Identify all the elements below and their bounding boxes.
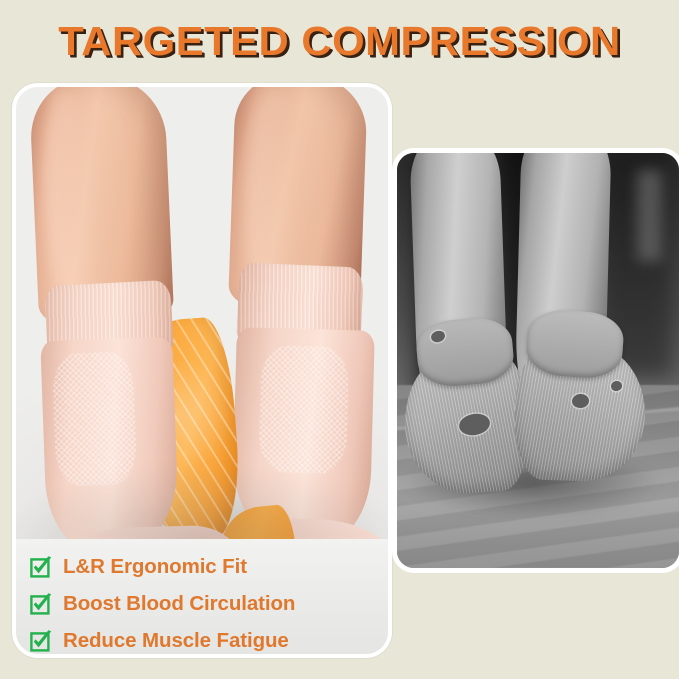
page-title: TARGETED COMPRESSION [0, 18, 679, 65]
checkbox-check-icon [30, 556, 52, 578]
feature-item-blood-circulation: Boost Blood Circulation [30, 585, 388, 622]
main-product-card: L&R Ergonomic Fit Boost Blood Circulatio… [12, 83, 392, 658]
feature-label: L&R Ergonomic Fit [63, 555, 247, 579]
worn-socks-photo [397, 153, 679, 568]
feature-list: L&R Ergonomic Fit Boost Blood Circulatio… [16, 539, 388, 658]
main-product-photo [16, 87, 388, 542]
checkbox-check-icon [30, 593, 52, 615]
right-worn-sock-cuff [525, 307, 625, 380]
checkbox-check-icon [30, 630, 52, 652]
floor-shadow [16, 466, 388, 542]
product-infographic: TARGETED COMPRESSION [0, 0, 679, 679]
feature-label: Reduce Muscle Fatigue [63, 629, 289, 653]
feature-label: Boost Blood Circulation [63, 592, 295, 616]
feature-item-ergonomic-fit: L&R Ergonomic Fit [30, 548, 388, 585]
background-blur-shape [637, 170, 662, 261]
comparison-inset-card [392, 148, 679, 573]
feature-item-muscle-fatigue: Reduce Muscle Fatigue [30, 622, 388, 658]
